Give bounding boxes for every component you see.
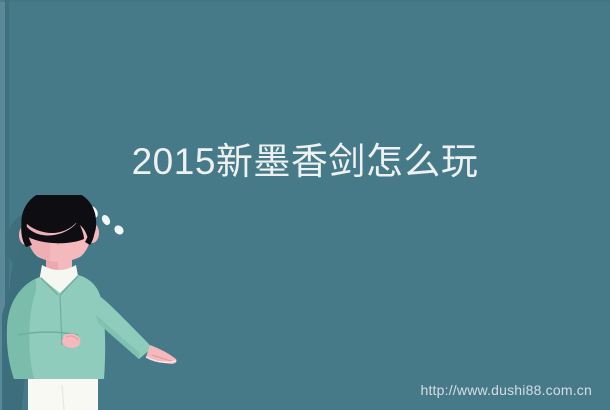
sparkle-mark-2-icon: [100, 214, 112, 227]
top-edge-line: [0, 0, 610, 2]
right-hand: [146, 345, 177, 364]
image-canvas: 2015新墨香剑怎么玩: [0, 0, 610, 410]
page-title: 2015新墨香剑怎么玩: [0, 138, 610, 186]
sparkle-mark-3-icon: [113, 224, 126, 237]
site-watermark: http://www.dushi88.com.cn: [420, 382, 592, 398]
person-illustration: [0, 195, 230, 410]
